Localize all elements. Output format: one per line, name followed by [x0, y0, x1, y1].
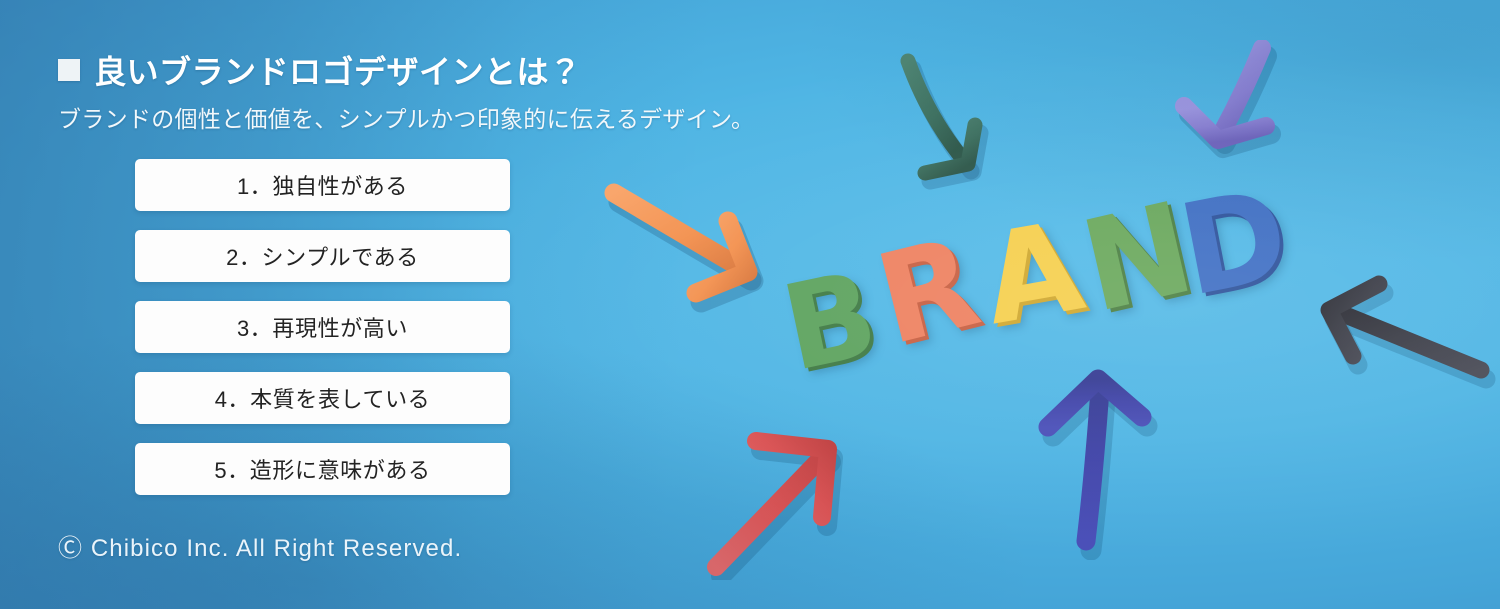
criteria-list: 1．独自性がある 2．シンプルである 3．再現性が高い 4．本質を表している 5… — [135, 159, 510, 495]
teal-arrow-down-icon — [890, 45, 1020, 200]
list-item-label: 2．シンプルである — [226, 240, 419, 272]
black-arrow-left-icon — [1295, 272, 1500, 407]
list-item[interactable]: 2．シンプルである — [135, 230, 510, 282]
copyright-notice: Ⓒ Chibico Inc. All Right Reserved. — [58, 528, 462, 563]
filled-square-icon — [58, 59, 80, 81]
list-item-label: 4．本質を表している — [215, 382, 431, 414]
orange-arrow-down-right-icon — [600, 175, 780, 320]
page-subtitle: ブランドの個性と価値を、シンプルかつ印象的に伝えるデザイン。 — [58, 100, 754, 134]
list-item[interactable]: 1．独自性がある — [135, 159, 510, 211]
page-title: 良いブランドロゴデザインとは？ — [58, 47, 582, 93]
list-item-label: 1．独自性がある — [237, 169, 408, 201]
list-item-label: 3．再現性が高い — [237, 311, 408, 343]
indigo-arrow-up-icon — [1030, 365, 1165, 560]
page-title-text: 良いブランドロゴデザインとは？ — [94, 47, 582, 93]
list-item[interactable]: 3．再現性が高い — [135, 301, 510, 353]
list-item[interactable]: 5．造形に意味がある — [135, 443, 510, 495]
list-item[interactable]: 4．本質を表している — [135, 372, 510, 424]
red-arrow-up-right-icon — [700, 405, 880, 580]
list-item-label: 5．造形に意味がある — [214, 453, 430, 485]
slide-root: B R A N D 良いブランドロゴデザインとは？ ブランドの個性と価値を、シン… — [0, 0, 1500, 609]
